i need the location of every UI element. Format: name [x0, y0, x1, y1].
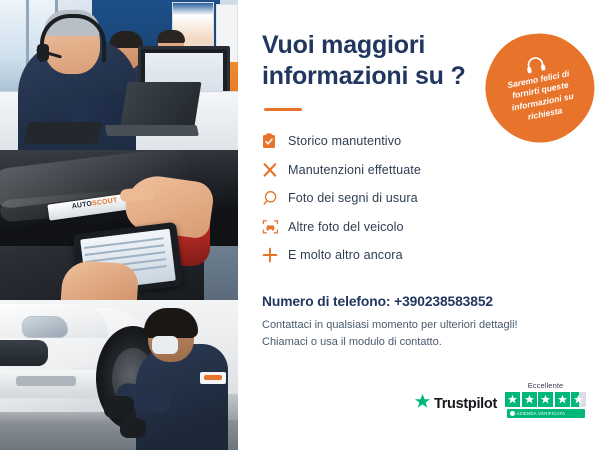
- list-item-label: E molto altro ancora: [288, 248, 403, 262]
- inspector-hand-lower: [61, 259, 140, 300]
- badge-text: Saremo felici di fornirti queste informa…: [496, 66, 587, 127]
- mechanic-glove-upper: [104, 396, 134, 418]
- mechanic-wheel-check-photo: [0, 300, 238, 450]
- magnifier-icon: [262, 190, 288, 206]
- plus-icon: [262, 247, 288, 263]
- verified-check-icon: [510, 411, 515, 416]
- list-item: Manutenzioni effettuate: [262, 156, 578, 185]
- mechanic-face-mask: [152, 336, 178, 354]
- list-item-label: Manutenzioni effettuate: [288, 163, 421, 177]
- verified-business-badge: AZIENDA VERIFICATA: [507, 409, 585, 418]
- contact-instructions-line-1: Contattaci in qualsiasi momento per ulte…: [262, 317, 578, 334]
- trustpilot-star-rating: [505, 392, 586, 407]
- rating-star: [555, 392, 570, 407]
- headset-icon: [524, 55, 547, 75]
- verified-business-label: AZIENDA VERIFICATA: [516, 411, 565, 416]
- vehicle-inspection-tablet-photo: AUTOSCOUT: [0, 150, 238, 300]
- car-fog-light-vent: [16, 376, 76, 386]
- agent-background-second-hair: [157, 30, 185, 43]
- rating-star-partial: [571, 392, 586, 407]
- trustpilot-wordmark: Trustpilot: [434, 396, 497, 412]
- vehicle-focus-icon: [262, 219, 288, 235]
- trustpilot-rating: Eccellente: [505, 381, 586, 419]
- clipboard-check-icon: [262, 133, 288, 149]
- list-item-label: Storico manutentivo: [288, 134, 401, 148]
- car-headlight: [22, 316, 68, 338]
- contact-instructions: Contattaci in qualsiasi momento per ulte…: [262, 317, 578, 351]
- trustpilot-rating-label: Eccellente: [528, 381, 564, 390]
- photo-strip: AUTOSCOUT: [0, 0, 238, 450]
- tools-cross-icon: [262, 162, 288, 178]
- badge-content: Saremo felici di fornirti queste informa…: [477, 25, 600, 152]
- phone-number-line[interactable]: Numero di telefono: +390238583852: [262, 294, 578, 309]
- rating-star: [505, 392, 520, 407]
- trustpilot-logo: Trustpilot: [414, 393, 497, 418]
- rating-star: [522, 392, 537, 407]
- call-center-agents-photo: [0, 0, 238, 150]
- mechanic-uniform-logo: [200, 372, 226, 384]
- list-item: Altre foto del veicolo: [262, 213, 578, 242]
- contact-instructions-line-2: Chiamaci o usa il modulo di contatto.: [262, 334, 578, 351]
- trustpilot-widget[interactable]: Trustpilot Eccellente: [414, 381, 586, 419]
- page-title: Vuoi maggiori informazioni su ?: [262, 30, 477, 91]
- laptop: [121, 82, 202, 126]
- vehicle-info-promo-card: AUTOSCOUT: [0, 0, 600, 450]
- list-item: Foto dei segni di usura: [262, 184, 578, 213]
- list-item-label: Altre foto del veicolo: [288, 220, 404, 234]
- feature-list: Storico manutentivo Manutenzioni effettu…: [262, 127, 578, 270]
- title-divider: [264, 108, 302, 111]
- mechanic-glove-lower: [120, 418, 146, 438]
- rating-star: [538, 392, 553, 407]
- desk-tablet: [24, 122, 103, 144]
- mechanic-hair: [144, 308, 198, 338]
- list-item-label: Foto dei segni di usura: [288, 191, 418, 205]
- trustpilot-star-icon: [414, 393, 431, 415]
- car-grille: [0, 340, 48, 366]
- promo-content-panel: Vuoi maggiori informazioni su ? Saremo f…: [238, 0, 600, 450]
- list-item: E molto altro ancora: [262, 241, 578, 270]
- request-info-badge: Saremo felici di fornirti queste informa…: [486, 34, 594, 142]
